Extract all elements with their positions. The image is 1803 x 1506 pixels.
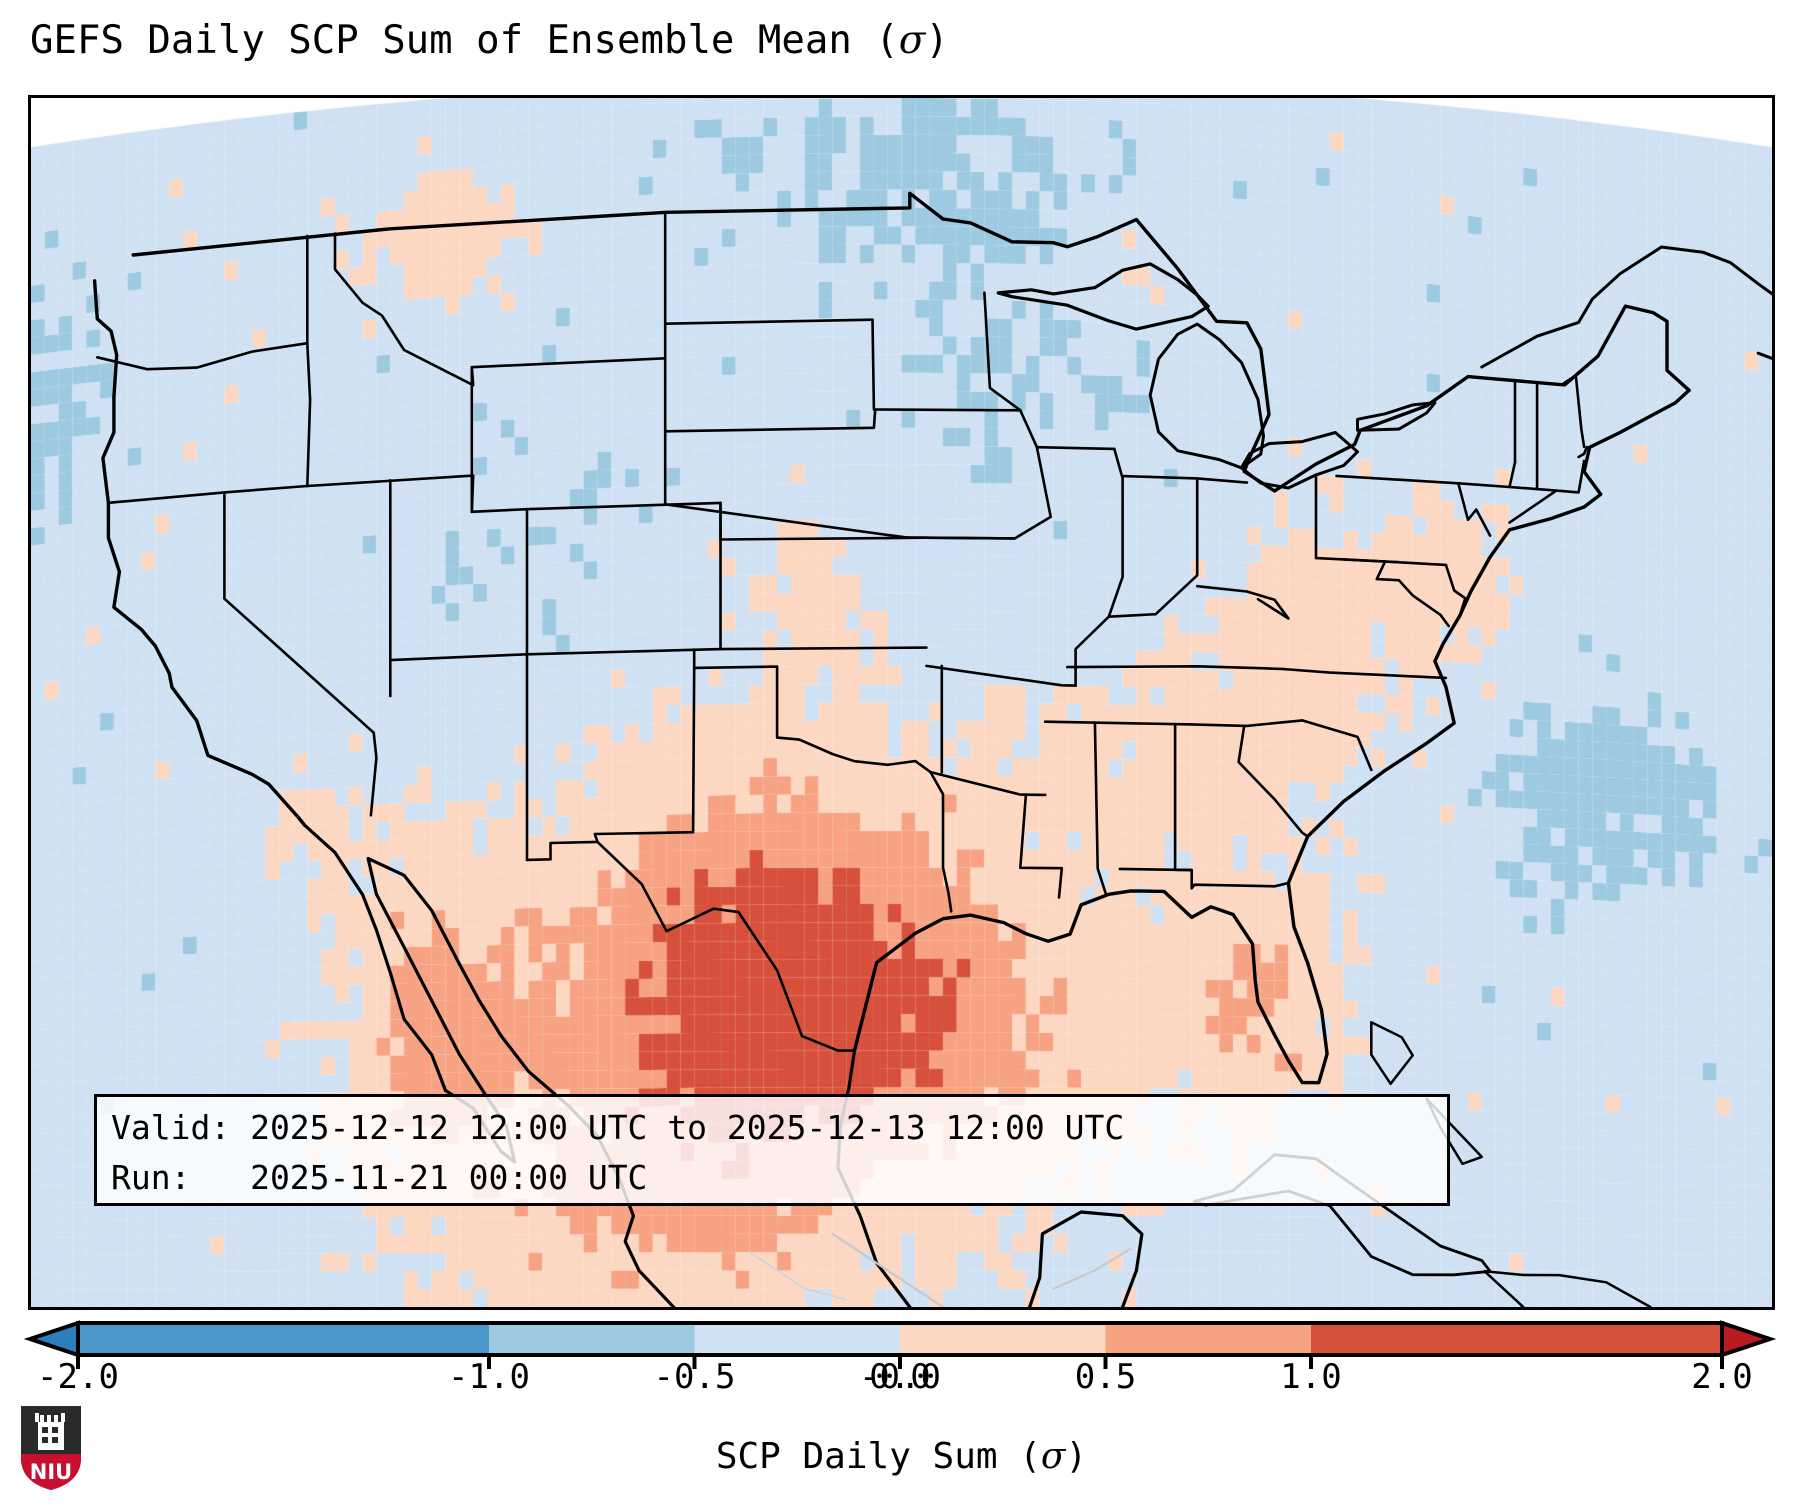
map-panel[interactable]: Valid: 2025-12-12 12:00 UTC to 2025-12-1… [28,95,1775,1310]
colorbar: -2.0-1.0-0.5-0.00.00.51.02.0 [0,1313,1803,1373]
colorbar-tick-2: -0.5 [654,1357,736,1397]
colorbar-label-close-paren: ) [1066,1436,1088,1477]
run-line: Run: 2025-11-21 00:00 UTC [111,1158,647,1197]
colorbar-label-text: SCP Daily Sum ( [716,1436,1041,1477]
colorbar-tick-6: 1.0 [1280,1357,1341,1397]
title-close-paren: ) [925,18,948,63]
valid-line: Valid: 2025-12-12 12:00 UTC to 2025-12-1… [111,1108,1124,1147]
colorbar-sigma-symbol: σ [1041,1436,1066,1477]
colorbar-tick-0: -2.0 [37,1357,119,1397]
colorbar-tick-5: 0.5 [1075,1357,1136,1397]
colorbar-tick-labels: -2.0-1.0-0.5-0.00.00.51.02.0 [0,1357,1803,1405]
sigma-symbol: σ [899,18,926,63]
page-title: GEFS Daily SCP Sum of Ensemble Mean (σ) [30,18,949,63]
colorbar-tick-7: 2.0 [1691,1357,1752,1397]
colorbar-axis-label: SCP Daily Sum (σ) [0,1436,1803,1477]
colorbar-tick-4: 0.0 [869,1357,930,1397]
niu-logo-text: NIU [30,1460,72,1484]
colorbar-tick-1: -1.0 [448,1357,530,1397]
niu-logo: NIU [18,1404,84,1492]
valid-run-infobox: Valid: 2025-12-12 12:00 UTC to 2025-12-1… [94,1094,1450,1206]
title-text: GEFS Daily SCP Sum of Ensemble Mean ( [30,18,899,63]
